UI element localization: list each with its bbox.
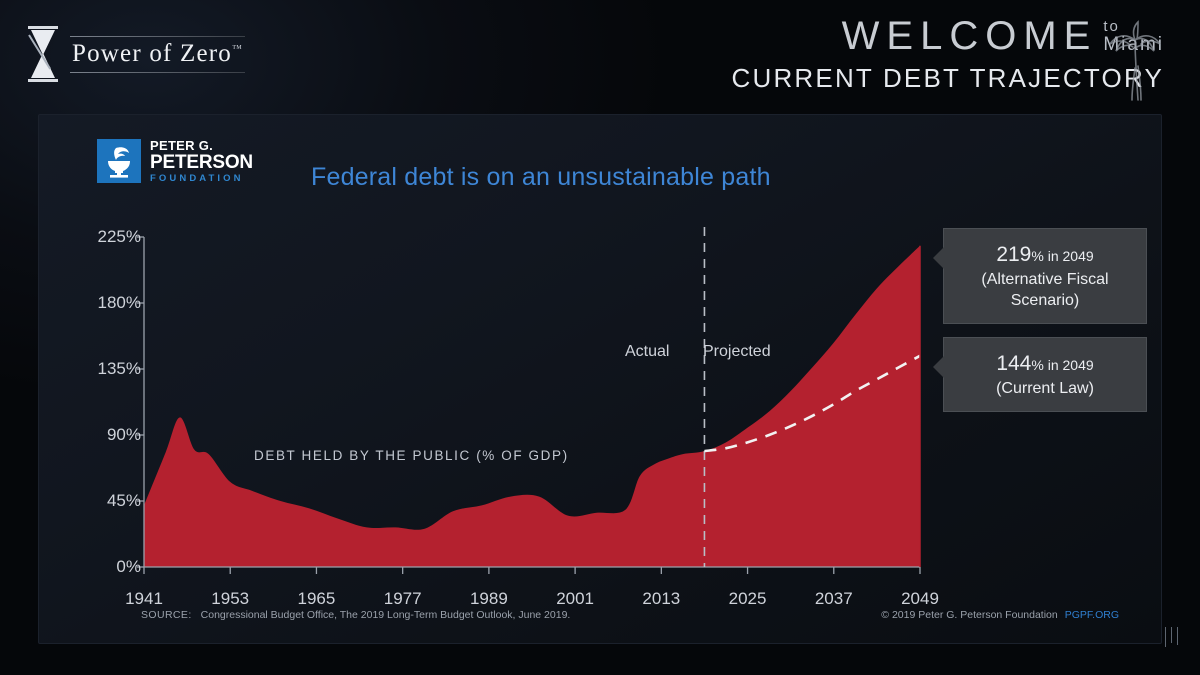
welcome-headline: Welcome (842, 16, 1098, 56)
palm-tree-icon (1104, 18, 1166, 102)
callout-law-value: 144% in 2049 (958, 350, 1132, 378)
source-label: SOURCE: (141, 609, 192, 621)
segment-label-projected: Projected (703, 343, 771, 361)
callout-alt-value: 219% in 2049 (958, 241, 1132, 269)
callout-alt-unit: % in 2049 (1031, 248, 1093, 264)
callout-law-sub: (Current Law) (958, 378, 1132, 399)
x-axis-tick-label: 1989 (470, 589, 508, 609)
chart-panel: PETER G. PETERSON FOUNDATION Federal deb… (38, 114, 1162, 644)
x-axis-tick-label: 2037 (815, 589, 853, 609)
x-axis-tick-label: 1965 (298, 589, 336, 609)
x-axis-tick-label: 1953 (211, 589, 249, 609)
segment-label-actual: Actual (625, 343, 669, 361)
logo-rule-bottom (70, 72, 245, 73)
x-axis-tick-label: 1941 (125, 589, 163, 609)
pgpf-site-link[interactable]: PGPF.ORG (1065, 609, 1119, 621)
source-note: SOURCE:Congressional Budget Office, The … (141, 609, 570, 621)
callout-alt-number: 219 (996, 243, 1031, 266)
page-tally-marks (1165, 627, 1178, 647)
brand-name: Power of Zero™ (70, 37, 245, 72)
callout-law-unit: % in 2049 (1031, 357, 1093, 373)
x-axis-tick-label: 2001 (556, 589, 594, 609)
brand-name-text: Power of Zero (72, 40, 232, 67)
trademark-mark: ™ (232, 43, 243, 54)
x-axis-tick-label: 2049 (901, 589, 939, 609)
hourglass-icon (28, 26, 58, 82)
x-axis-tick-label: 2025 (729, 589, 767, 609)
slide-header: Power of Zero™ Welcome to Miami Current … (0, 0, 1200, 112)
slide-canvas: Power of Zero™ Welcome to Miami Current … (0, 0, 1200, 675)
callout-alt-sub: (Alternative Fiscal Scenario) (958, 269, 1132, 311)
chart-footer: SOURCE:Congressional Budget Office, The … (39, 609, 1163, 631)
callout-law-number: 144 (996, 352, 1031, 375)
welcome-block: Welcome to Miami Current Debt Trajectory (732, 16, 1165, 94)
copyright-note: © 2019 Peter G. Peterson FoundationPGPF.… (881, 609, 1119, 621)
x-axis-tick-label: 1977 (384, 589, 422, 609)
callout-current-law: 144% in 2049 (Current Law) (943, 337, 1147, 412)
slide-subtitle: Current Debt Trajectory (732, 63, 1165, 94)
power-of-zero-logo: Power of Zero™ (28, 26, 245, 82)
copyright-text: © 2019 Peter G. Peterson Foundation (881, 609, 1057, 621)
source-value: Congressional Budget Office, The 2019 Lo… (201, 609, 571, 621)
callout-alternative-fiscal-scenario: 219% in 2049 (Alternative Fiscal Scenari… (943, 228, 1147, 324)
x-axis-tick-label: 2013 (642, 589, 680, 609)
plot-series-label: Debt held by the public (% of GDP) (254, 448, 569, 463)
